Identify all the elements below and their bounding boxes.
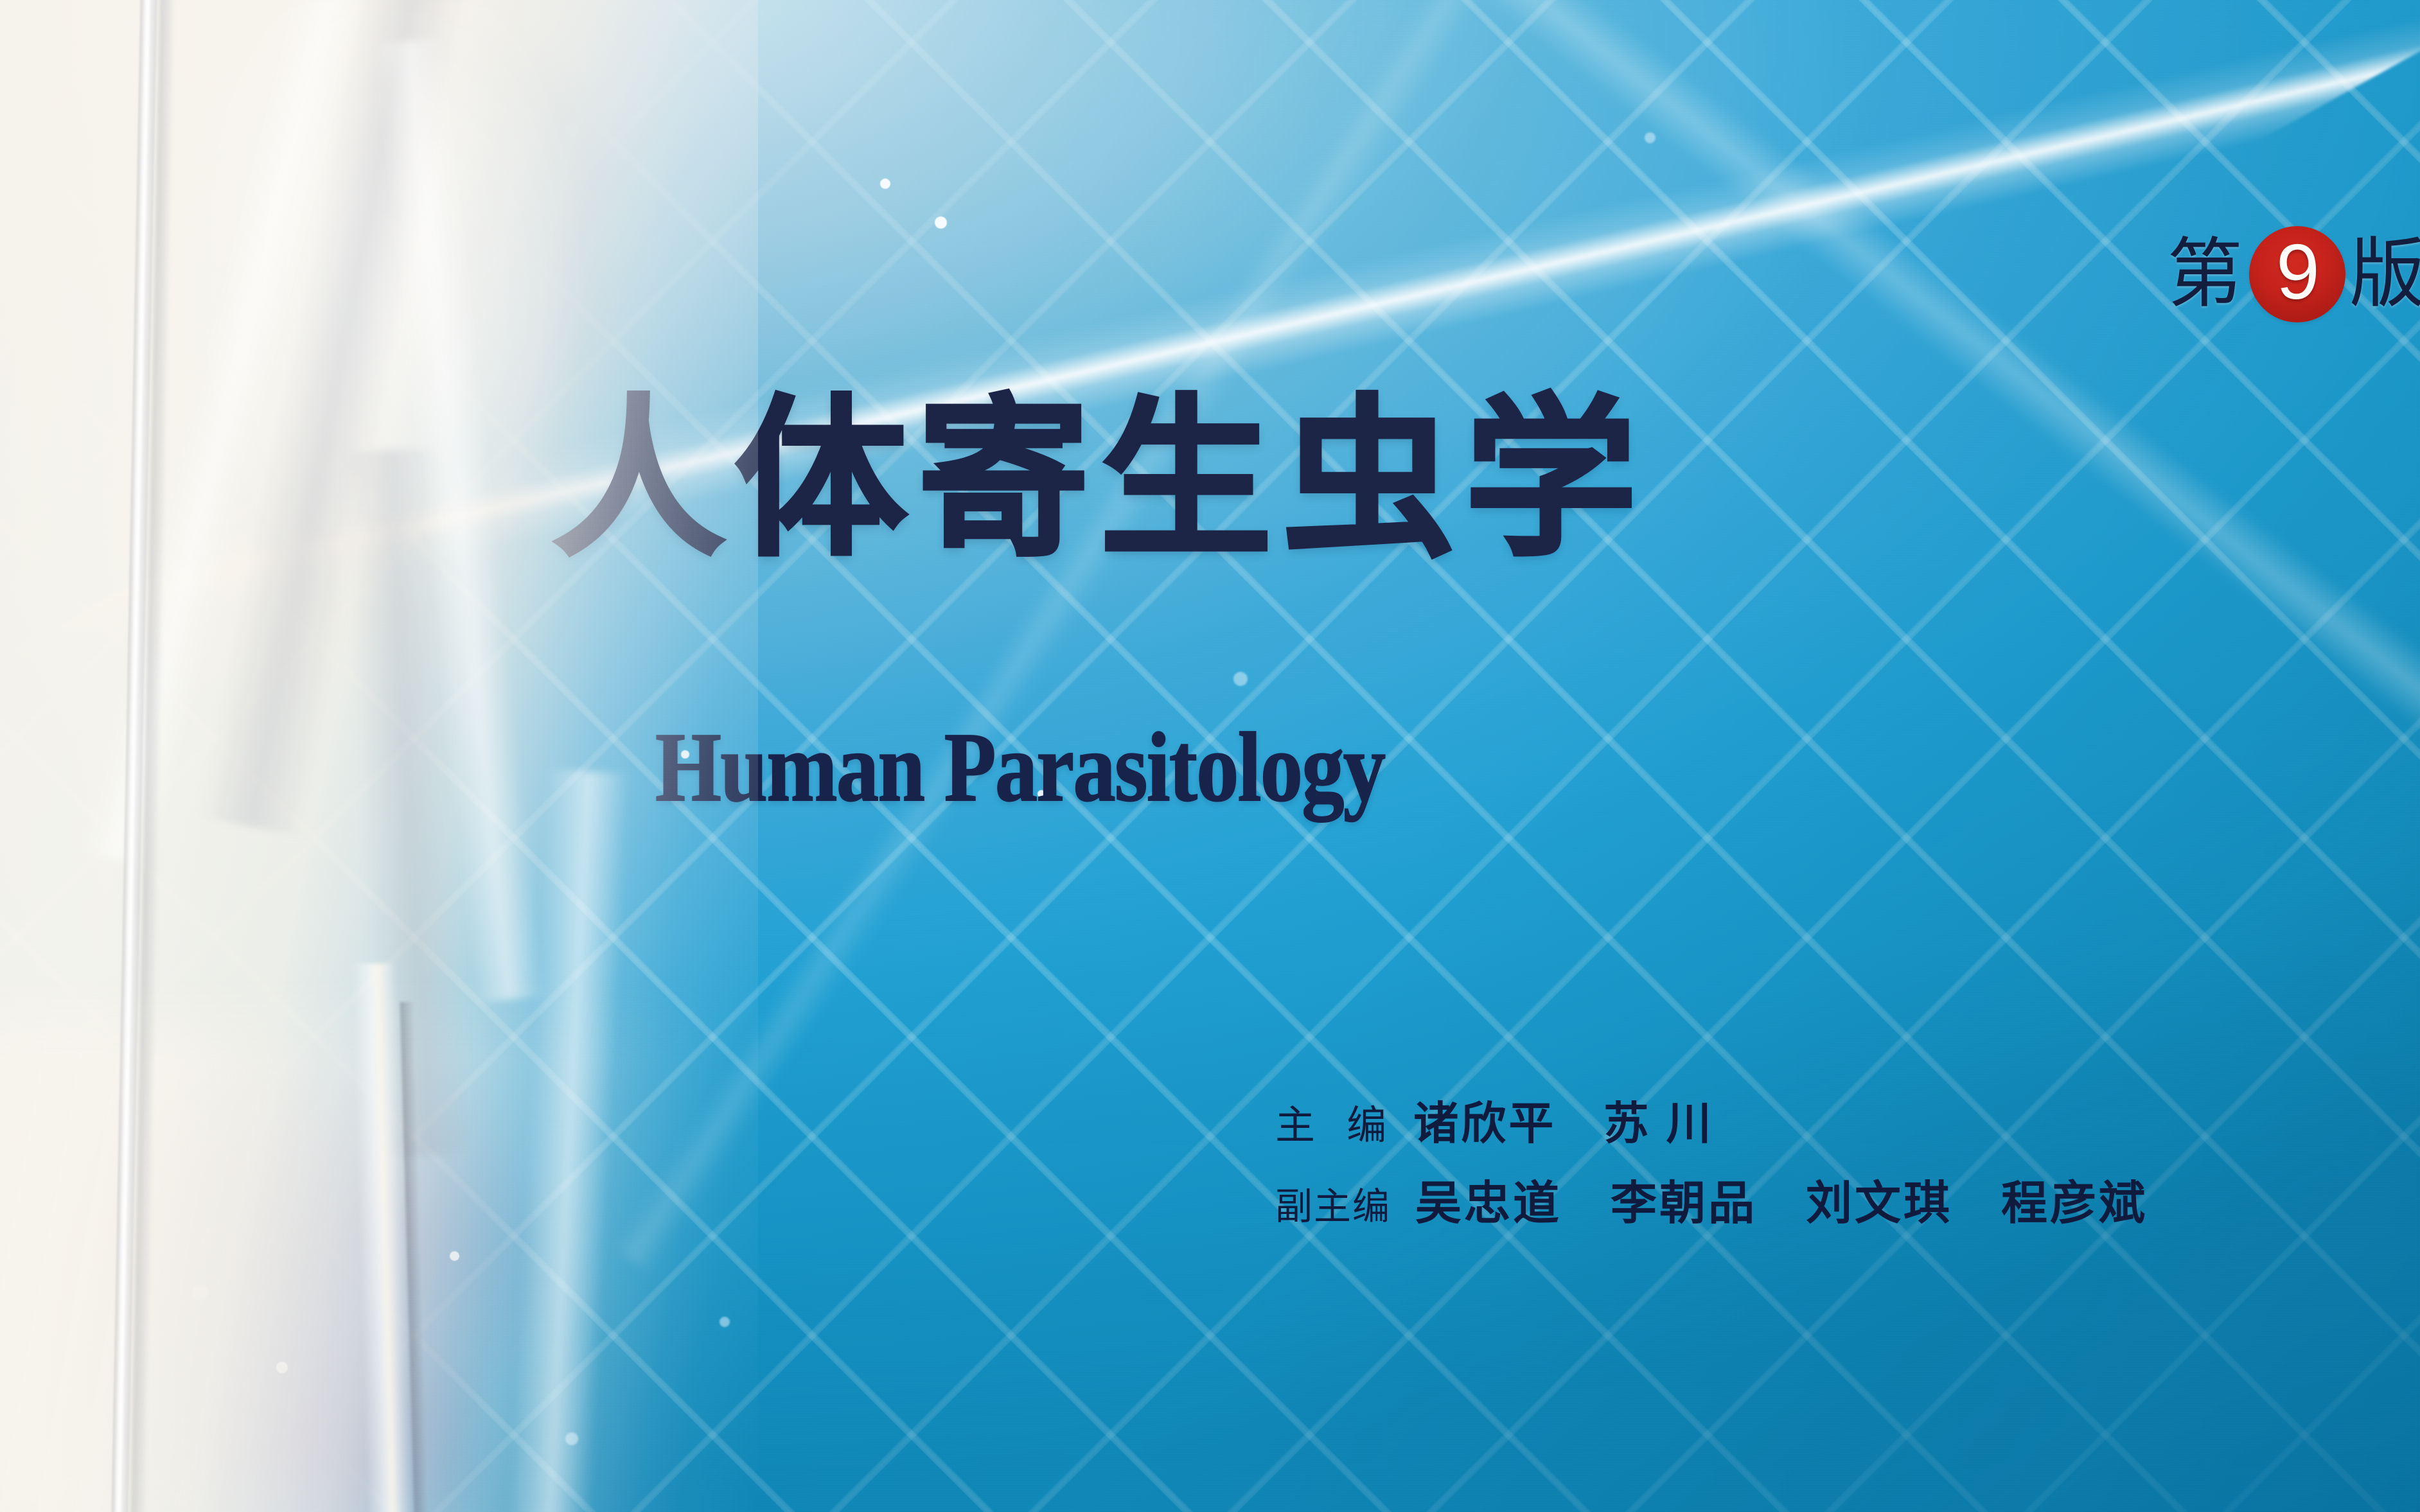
credit-names-chief-editor: 诸欣平 苏 川 <box>1413 1101 1713 1146</box>
book-title-chinese: 人体寄生虫学 <box>552 393 1647 565</box>
edition-badge: 第 9 版 <box>2167 226 2420 322</box>
edition-number-circle: 9 <box>2249 226 2345 322</box>
credit-label-chief-editor: 主 编 <box>1275 1106 1397 1146</box>
credit-row-associate-editor: 副主编 吴忠道 李朝品 刘文琪 程彦斌 <box>1275 1181 2148 1227</box>
book-title-english: Human Parasitology <box>655 718 1384 817</box>
credit-row-chief-editor: 主 编 诸欣平 苏 川 <box>1275 1101 2148 1146</box>
credit-label-associate-editor: 副主编 <box>1275 1188 1391 1226</box>
credit-names-associate-editor: 吴忠道 李朝品 刘文琪 程彦斌 <box>1415 1181 2148 1227</box>
edition-suffix-label: 版 <box>2349 236 2420 312</box>
edition-prefix-label: 第 <box>2167 236 2243 312</box>
edition-number: 9 <box>2276 233 2320 311</box>
book-cover-photo: 第 9 版 人体寄生虫学 Human Parasitology 主 编 诸欣平 … <box>0 0 2420 1512</box>
editor-credits: 主 编 诸欣平 苏 川 副主编 吴忠道 李朝品 刘文琪 程彦斌 <box>1275 1101 2148 1261</box>
